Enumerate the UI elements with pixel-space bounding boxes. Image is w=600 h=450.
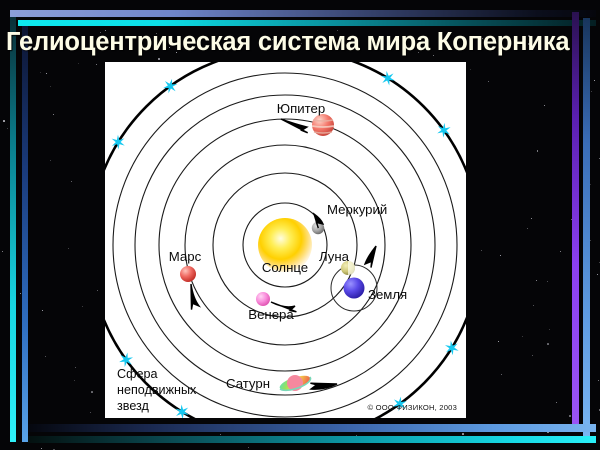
background-star — [2, 251, 3, 252]
background-star — [531, 218, 532, 219]
decor-bar-right-purple — [572, 12, 579, 432]
background-star — [40, 72, 42, 74]
heliocentric-diagram-panel: Солнце Меркурий Венера Земля Луна Марс — [105, 62, 466, 418]
label-sphere-line2: неподвижных — [117, 383, 197, 397]
background-star — [597, 274, 598, 275]
background-star — [74, 380, 75, 381]
background-star — [3, 120, 5, 122]
earth-direction-arrow — [365, 246, 376, 268]
decor-bar-bottom-cyan — [28, 436, 596, 443]
background-star — [527, 228, 528, 229]
background-star — [71, 181, 72, 182]
heliocentric-diagram-svg: Солнце Меркурий Венера Земля Луна Марс — [105, 62, 466, 418]
background-star — [42, 310, 43, 311]
background-star — [96, 64, 97, 65]
background-star — [462, 433, 464, 435]
background-star — [50, 160, 51, 161]
background-star — [7, 128, 8, 129]
background-star — [20, 293, 21, 294]
background-star — [78, 63, 79, 64]
background-star — [90, 412, 92, 414]
background-star — [569, 415, 571, 417]
mars-body — [180, 266, 196, 282]
jupiter-body — [312, 114, 334, 136]
label-earth: Земля — [368, 287, 407, 302]
background-star — [599, 262, 600, 263]
background-star — [590, 240, 591, 241]
background-star — [560, 251, 561, 252]
decor-bar-right-blue — [583, 18, 590, 438]
background-star — [549, 329, 550, 330]
background-star — [68, 248, 69, 249]
background-star — [599, 158, 600, 159]
background-star — [598, 380, 599, 381]
background-star — [46, 73, 47, 74]
fixed-star-marker — [381, 71, 395, 86]
background-star — [158, 58, 160, 60]
background-star — [498, 341, 499, 342]
background-star — [41, 448, 42, 449]
background-star — [533, 305, 534, 306]
background-star — [97, 290, 98, 291]
background-star — [590, 184, 591, 185]
label-sphere-line1: Сфера — [117, 367, 157, 381]
jupiter-direction-arrow — [281, 119, 308, 133]
background-star — [488, 81, 489, 82]
background-star — [547, 281, 548, 282]
slide-title: Гелиоцентрическая система мира Коперника — [6, 26, 586, 58]
background-star — [53, 114, 54, 115]
label-jupiter: Юпитер — [277, 101, 325, 116]
background-star — [532, 355, 533, 356]
slide-canvas: Гелиоцентрическая система мира Коперника — [0, 0, 600, 450]
label-sphere-line3: звезд — [117, 399, 150, 413]
background-star — [50, 86, 51, 87]
background-star — [522, 336, 523, 337]
earth-body — [344, 278, 365, 299]
background-star — [594, 80, 595, 81]
background-star — [481, 250, 482, 251]
background-star — [536, 280, 537, 281]
venus-body — [256, 292, 270, 306]
decor-bar-left-blue — [22, 26, 28, 442]
background-star — [500, 255, 501, 256]
decor-bar-top-violet — [10, 10, 596, 17]
background-star — [82, 306, 83, 307]
background-star — [547, 343, 549, 345]
label-venus: Венера — [248, 307, 294, 322]
background-star — [537, 150, 539, 152]
label-mars: Марс — [169, 249, 202, 264]
decor-bar-left-cyan — [10, 17, 16, 442]
label-saturn: Сатурн — [226, 376, 270, 391]
saturn-direction-arrow — [310, 383, 337, 389]
label-sun: Солнце — [262, 260, 308, 275]
background-star — [544, 105, 545, 106]
background-star — [75, 367, 77, 369]
label-moon: Луна — [319, 249, 350, 264]
background-star — [45, 356, 46, 357]
background-star — [501, 374, 502, 375]
decor-bar-bottom-blue — [28, 424, 596, 432]
copyright-notice: © ООО ФИЗИКОН, 2003 — [368, 403, 457, 412]
background-star — [556, 402, 557, 403]
label-mercury: Меркурий — [327, 202, 387, 217]
background-star — [470, 69, 471, 70]
background-star — [91, 391, 93, 393]
background-star — [248, 447, 249, 448]
saturn-body — [278, 373, 312, 393]
background-star — [547, 432, 549, 434]
background-star — [591, 91, 592, 92]
